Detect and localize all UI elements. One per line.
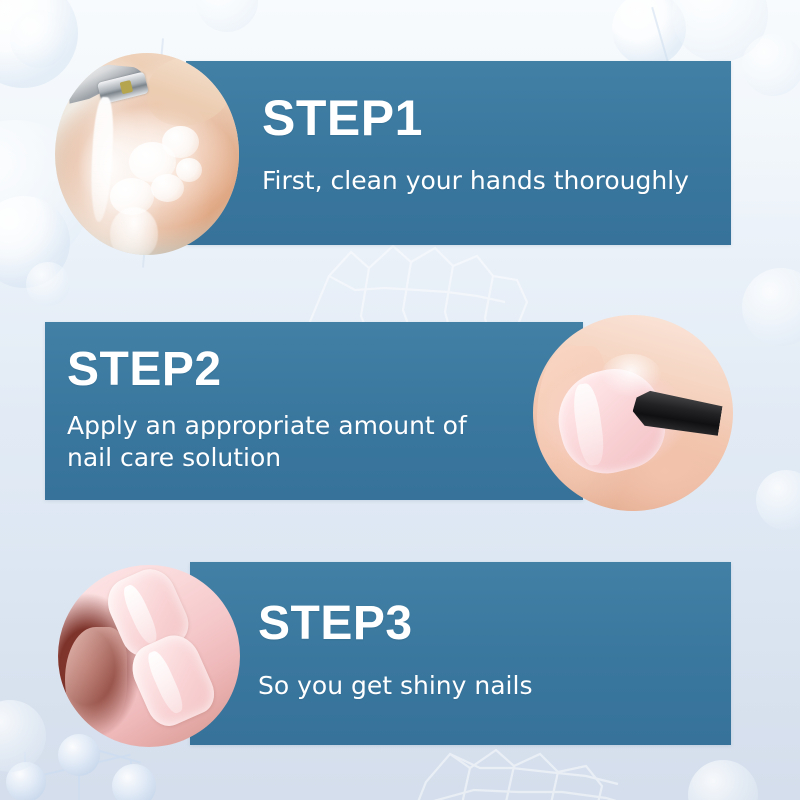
- promo-graphic: STEP1 First, clean your hands thoroughly: [0, 0, 800, 800]
- step-3-banner: STEP3 So you get shiny nails: [190, 562, 731, 745]
- step-3-description-line: So you get shiny nails: [258, 670, 717, 702]
- finger-shape: [65, 627, 127, 733]
- shiny-nails-photo: [58, 565, 240, 747]
- step-3-description: So you get shiny nails: [258, 670, 717, 702]
- step-3-row: STEP3 So you get shiny nails: [0, 0, 800, 800]
- step-3-title: STEP3: [258, 600, 717, 648]
